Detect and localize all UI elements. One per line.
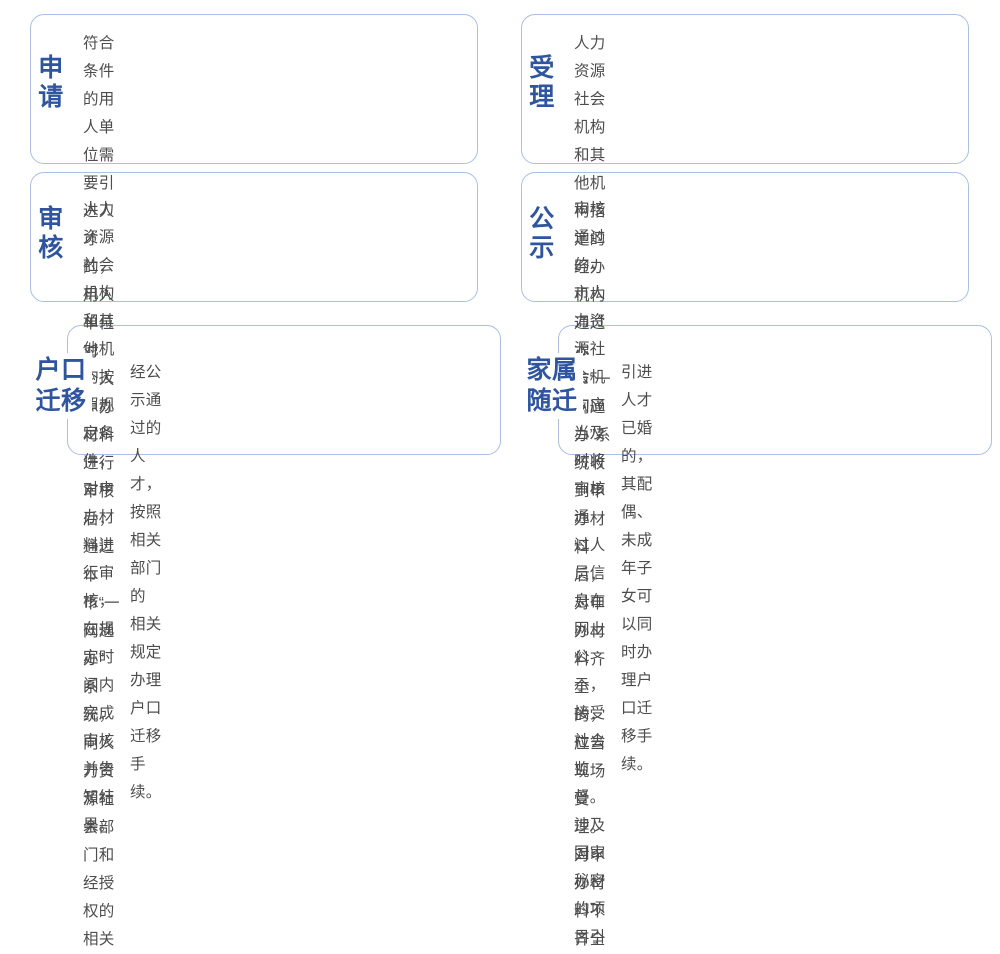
step-body-review: 人力资源社会机构和其他机构按照规定条件， 对申办材料进行审核，在规定时间内完成审… [83,196,114,840]
step-body-family-relocation: 引进人才已婚的，其配偶、未成年子 女可以同时办理户口迁移手续。 [621,359,652,779]
step-label-review: 审核 [35,203,67,265]
step-label-hukou-transfer: 户口迁移 [30,353,92,419]
step-label-family-relocation: 家属随迁 [521,353,583,419]
step-label-apply: 申请 [35,52,67,114]
step-label-accept: 受理 [526,52,558,114]
step-label-publish: 公示 [526,203,558,265]
step-body-hukou-transfer: 经公示通过的人才，按照相关部门的 相关规定办理户口迁移手续。 [130,359,161,807]
process-flow-diagram: 申请 符合条件的用人单位需要引进人才的，用人单位对 个人申办材料进行审核后，通过… [0,0,1000,477]
step-body-publish: 审核通过的，市人力资源社会机构应当及时将审核通 过人员信息在网上公示，接受社会监… [574,196,605,954]
